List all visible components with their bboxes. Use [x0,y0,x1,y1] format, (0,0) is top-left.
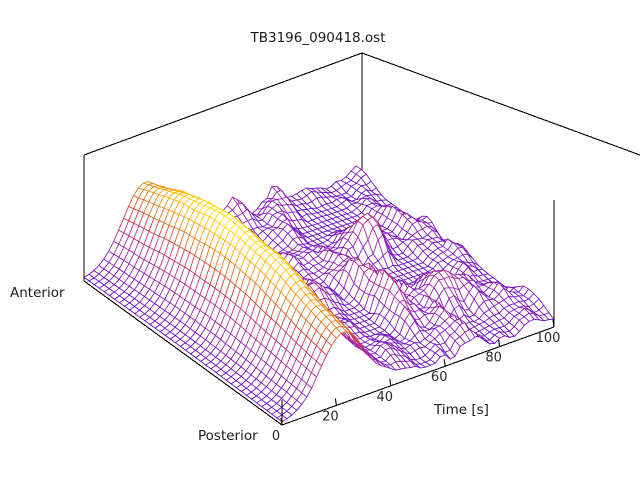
x-tick-label: 20 [322,409,339,424]
x-tick-label: 0 [272,429,280,444]
x-tick-label: 60 [431,370,448,385]
x-tick-label: 80 [485,351,502,366]
x-tick-mark [390,379,391,386]
plot-svg: 020406080100 TB3196_090418.ost Anterior … [0,0,640,480]
x-tick-mark [335,398,336,405]
x-tick-mark [499,340,500,347]
surface-wireframe-mesh [84,166,554,422]
axis-label-time: Time [s] [433,402,489,418]
x-tick-mark [444,359,445,366]
figure-canvas: 020406080100 TB3196_090418.ost Anterior … [0,0,640,480]
axis-label-anterior: Anterior [10,285,65,301]
axis-label-posterior: Posterior [198,428,258,444]
x-tick-label: 40 [377,390,394,405]
x-tick-label: 100 [536,331,561,346]
plot-title: TB3196_090418.ost [249,30,385,46]
